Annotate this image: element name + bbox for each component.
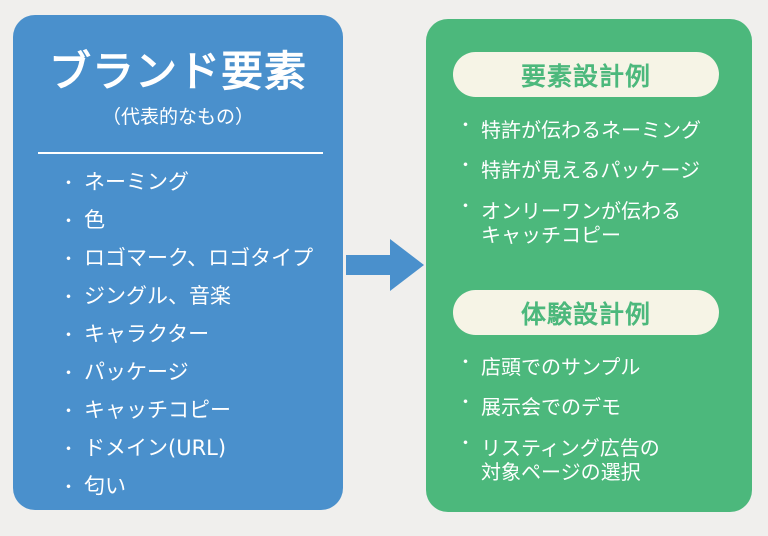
bullet-icon: ・ [457, 355, 474, 372]
list-item: ・ 店頭でのサンプル [426, 355, 752, 379]
element-design-list: ・ 特許が伝わるネーミング ・ 特許が見えるパッケージ ・ オンリーワンが伝わる… [426, 118, 752, 264]
bullet-icon: ・ [60, 328, 77, 345]
list-item-label: オンリーワンが伝わる [481, 199, 681, 223]
brand-elements-list: ・ ネーミング ・ 色 ・ ロゴマーク、ロゴタイプ ・ ジングル、音楽 ・ キャ… [13, 172, 343, 514]
list-item: ・ ジングル、音楽 [13, 286, 343, 324]
list-item-label-line2: キャッチコピー [481, 223, 681, 247]
bullet-icon: ・ [457, 158, 474, 175]
bullet-icon: ・ [457, 118, 474, 135]
bullet-icon: ・ [60, 366, 77, 383]
list-item-label: ジングル、音楽 [84, 286, 231, 307]
list-item: ・ オンリーワンが伝わる キャッチコピー [426, 199, 752, 248]
list-item-label: 展示会でのデモ [481, 395, 621, 419]
bullet-icon: ・ [457, 199, 474, 216]
bullet-icon: ・ [60, 176, 77, 193]
list-item: ・ 特許が見えるパッケージ [426, 158, 752, 182]
bullet-icon: ・ [457, 436, 474, 453]
list-item: ・ 匂い [13, 476, 343, 514]
bullet-icon: ・ [60, 442, 77, 459]
list-item-label: 店頭でのサンプル [481, 355, 640, 379]
list-item-label: キャッチコピー [84, 400, 231, 421]
bullet-icon: ・ [60, 404, 77, 421]
list-item-label: ネーミング [84, 172, 189, 193]
list-item: ・ キャラクター [13, 324, 343, 362]
bullet-icon: ・ [60, 214, 77, 231]
page-subtitle: （代表的なもの） [13, 107, 343, 128]
list-item-label: パッケージ [84, 362, 189, 383]
list-item: ・ 色 [13, 210, 343, 248]
bullet-icon: ・ [60, 480, 77, 497]
list-item-label: キャラクター [84, 324, 209, 345]
experience-design-list: ・ 店頭でのサンプル ・ 展示会でのデモ ・ リスティング広告の 対象ページの選… [426, 355, 752, 501]
section-heading-experience-design: 体験設計例 [453, 290, 719, 335]
bullet-icon: ・ [60, 252, 77, 269]
design-examples-panel: 要素設計例 ・ 特許が伝わるネーミング ・ 特許が見えるパッケージ ・ オンリー… [426, 19, 752, 512]
list-item: ・ ドメイン(URL) [13, 438, 343, 476]
list-item-label: リスティング広告の [481, 436, 660, 460]
list-item: ・ ロゴマーク、ロゴタイプ [13, 248, 343, 286]
list-item-label: ロゴマーク、ロゴタイプ [84, 248, 313, 269]
list-item-label: 特許が伝わるネーミング [481, 118, 701, 142]
list-item: ・ 展示会でのデモ [426, 395, 752, 419]
list-item-label: 特許が見えるパッケージ [481, 158, 700, 182]
slide-canvas: ブランド要素 （代表的なもの） ・ ネーミング ・ 色 ・ ロゴマーク、ロゴタイ… [0, 0, 768, 536]
title-divider [38, 152, 323, 154]
list-item: ・ キャッチコピー [13, 400, 343, 438]
list-item-label-line2: 対象ページの選択 [481, 460, 660, 484]
brand-elements-panel: ブランド要素 （代表的なもの） ・ ネーミング ・ 色 ・ ロゴマーク、ロゴタイ… [13, 15, 343, 510]
list-item: ・ ネーミング [13, 172, 343, 210]
list-item-label: 匂い [84, 476, 126, 497]
list-item-label: ドメイン(URL) [84, 438, 226, 459]
section-heading-element-design: 要素設計例 [453, 52, 719, 97]
list-item-label: 色 [84, 210, 105, 231]
bullet-icon: ・ [457, 395, 474, 412]
arrow-right-icon [346, 239, 424, 291]
bullet-icon: ・ [60, 290, 77, 307]
list-item: ・ パッケージ [13, 362, 343, 400]
list-item: ・ リスティング広告の 対象ページの選択 [426, 436, 752, 485]
page-title: ブランド要素 [13, 51, 343, 93]
list-item: ・ 特許が伝わるネーミング [426, 118, 752, 142]
